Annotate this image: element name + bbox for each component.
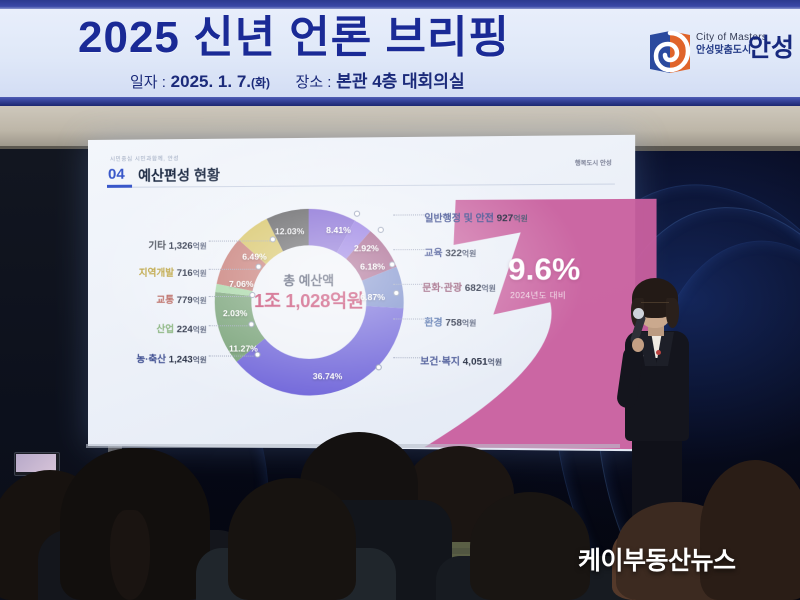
segment-percent-label: 7.06% xyxy=(229,279,254,289)
legend-label-일반행정및안전: 일반행정 및 안전 927억원 xyxy=(424,210,527,225)
legend-name: 농·축산 xyxy=(136,354,166,365)
leader-line xyxy=(393,318,424,319)
legend-amount: 927 xyxy=(497,213,514,224)
legend-name: 환경 xyxy=(424,318,442,329)
leader-line xyxy=(393,249,424,250)
leader-node xyxy=(254,352,260,358)
legend-name: 산업 xyxy=(156,324,174,335)
audience-head xyxy=(228,478,356,600)
legend-name: 문화·관광 xyxy=(422,283,462,294)
banner-subtitle: 일자 : 2025. 1. 7.(화) 장소 : 본관 4층 대회의실 xyxy=(130,70,550,94)
legend-name: 보건·복지 xyxy=(420,356,460,367)
audience-head xyxy=(700,460,800,600)
legend-name: 기타 xyxy=(148,241,166,252)
legend-amount: 322 xyxy=(445,248,462,259)
leader-node xyxy=(378,227,384,233)
leader-line xyxy=(209,269,256,270)
banner-date-value: 2025. 1. 7. xyxy=(171,72,251,91)
growth-caption: 2024년도 대비 xyxy=(510,290,566,301)
microphone-head-icon xyxy=(633,308,644,319)
legend-label-교육: 교육 322억원 xyxy=(424,245,476,259)
legend-label-농축산: 농·축산 1,243억원 xyxy=(88,351,207,366)
screenshot-root: 2025 신년 언론 브리핑 일자 : 2025. 1. 7.(화) 장소 : … xyxy=(0,0,800,600)
presenter-hand xyxy=(632,338,644,352)
growth-percent: 9.6% xyxy=(508,253,580,288)
segment-percent-label: 11.27% xyxy=(229,343,258,353)
legend-amount: 1,326 xyxy=(169,241,193,252)
segment-percent-label: 2.03% xyxy=(223,308,248,318)
legend-unit: 억원 xyxy=(462,249,476,258)
leader-line xyxy=(209,355,254,356)
leader-node xyxy=(248,321,254,327)
lapel-pin-icon xyxy=(656,350,661,355)
legend-name: 지역개발 xyxy=(139,268,174,279)
legend-amount: 716 xyxy=(177,268,193,279)
legend-label-환경: 환경 758억원 xyxy=(424,314,476,328)
leader-line xyxy=(393,214,424,215)
audience-ponytail xyxy=(110,510,150,600)
leader-line xyxy=(393,357,420,358)
banner-title: 2025 신년 언론 브리핑 xyxy=(78,12,598,64)
segment-percent-label: 12.03% xyxy=(275,226,305,236)
banner-place-label: 장소 : xyxy=(296,74,332,91)
legend-amount: 1,243 xyxy=(169,354,193,365)
legend-amount: 779 xyxy=(177,295,193,306)
legend-unit: 억원 xyxy=(193,269,207,278)
leader-node xyxy=(393,290,399,296)
legend-label-지역개발: 지역개발 716억원 xyxy=(90,265,207,279)
legend-amount: 682 xyxy=(465,283,482,294)
legend-label-문화관광: 문화·관광 682억원 xyxy=(422,280,496,294)
banner-place-value: 본관 4층 대회의실 xyxy=(336,72,464,91)
legend-amount: 4,051 xyxy=(463,356,488,367)
legend-amount: 758 xyxy=(445,318,462,329)
leader-node xyxy=(255,264,261,270)
audience-head xyxy=(470,492,590,600)
legend-name: 일반행정 및 안전 xyxy=(424,213,493,225)
slide-title: 예산편성 현황 xyxy=(138,166,220,185)
segment-percent-label: 6.87% xyxy=(360,292,385,302)
leader-line xyxy=(209,325,248,326)
legend-name: 교통 xyxy=(156,295,174,306)
logo-text-kr-big: 안성 xyxy=(748,33,794,63)
slide-eyebrow: 시민중심 시민과함께, 안성 xyxy=(110,154,179,163)
leader-line xyxy=(209,240,270,241)
legend-unit: 억원 xyxy=(481,284,495,293)
leader-node xyxy=(249,292,255,298)
legend-unit: 억원 xyxy=(488,358,502,367)
slide-number-underline xyxy=(107,185,132,188)
legend-name: 교육 xyxy=(424,248,442,259)
leader-node xyxy=(389,261,395,267)
segment-percent-label: 8.41% xyxy=(326,225,351,235)
segment-percent-label: 2.92% xyxy=(354,243,379,253)
watermark: 케이부동산뉴스 xyxy=(578,541,736,577)
banner-date-label: 일자 : xyxy=(130,74,166,91)
leader-node xyxy=(354,211,360,217)
legend-label-산업: 산업 224억원 xyxy=(96,321,207,335)
legend-label-기타: 기타 1,326억원 xyxy=(96,238,207,252)
legend-unit: 억원 xyxy=(462,319,476,328)
leader-node xyxy=(376,364,382,370)
legend-unit: 억원 xyxy=(193,355,207,364)
projection-screen: 시민중심 시민과함께, 안성 04 예산편성 현황 행복도시 안성 9.6% 2… xyxy=(88,135,635,451)
legend-label-보건복지: 보건·복지 4,051억원 xyxy=(420,353,502,368)
legend-unit: 억원 xyxy=(193,242,207,251)
event-banner: 2025 신년 언론 브리핑 일자 : 2025. 1. 7.(화) 장소 : … xyxy=(0,0,800,106)
legend-label-교통: 교통 779억원 xyxy=(96,292,207,306)
leader-line xyxy=(209,296,250,297)
segment-percent-label: 6.49% xyxy=(242,252,267,262)
city-logo: City of Masters 안성맞춤도시 안성 xyxy=(648,27,794,79)
legend-unit: 억원 xyxy=(193,296,207,305)
slide-brand-mark: 행복도시 안성 xyxy=(575,158,612,168)
legend-unit: 억원 xyxy=(513,214,528,223)
leader-node xyxy=(270,236,276,242)
anseong-city-emblem-icon xyxy=(648,29,692,75)
presenter xyxy=(612,276,702,526)
segment-percent-label: 36.74% xyxy=(313,371,343,381)
slide-number: 04 xyxy=(108,166,125,184)
legend-amount: 224 xyxy=(177,324,193,335)
banner-date-day: (화) xyxy=(251,76,270,90)
leader-line xyxy=(393,284,422,285)
eyeglasses-icon xyxy=(641,302,669,310)
legend-unit: 억원 xyxy=(193,325,207,334)
segment-percent-label: 6.18% xyxy=(360,261,385,271)
